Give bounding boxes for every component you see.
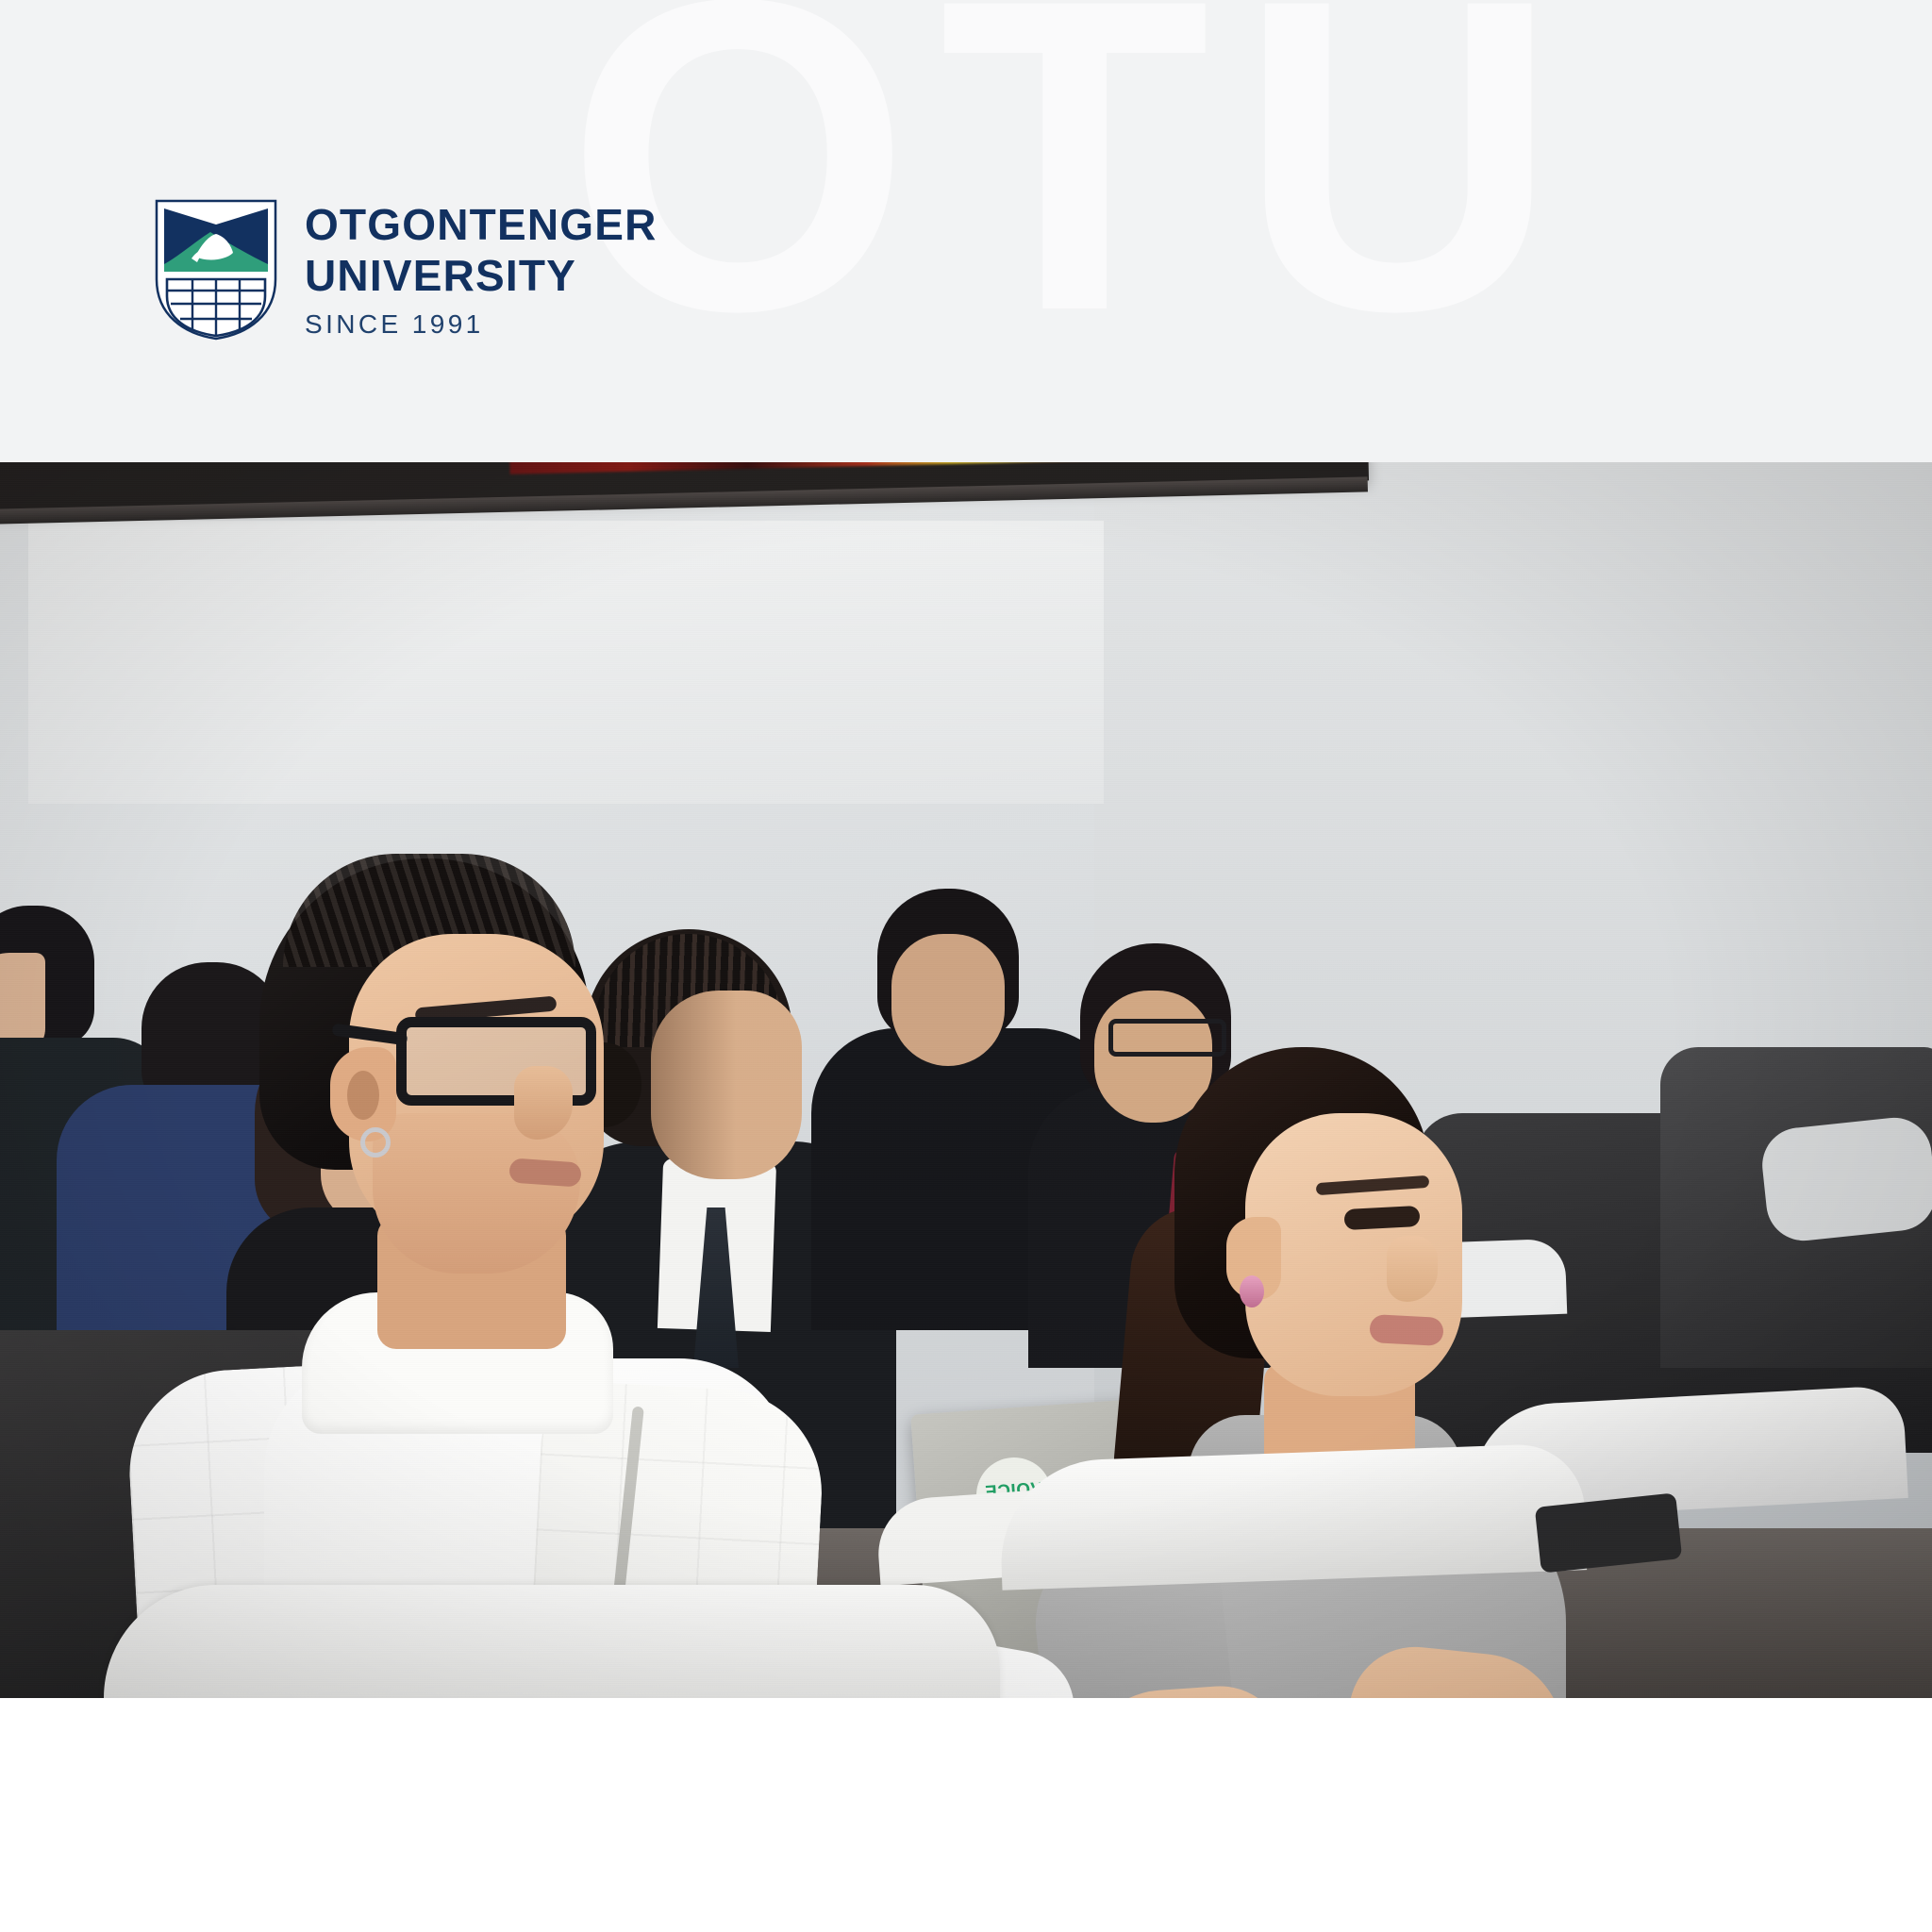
wordmark-line-otgontenger: OTGONTENGER xyxy=(305,200,658,250)
wordmark-since-1991: SINCE 1991 xyxy=(305,309,658,340)
photo-vignette xyxy=(0,462,1932,1698)
university-wordmark: OTGONTENGER UNIVERSITY SINCE 1991 xyxy=(305,200,658,340)
otu-watermark: OTU xyxy=(566,0,1587,377)
classroom-photograph: VOICE 1111 lool xyxy=(0,462,1932,1698)
wordmark-line-university: UNIVERSITY xyxy=(305,251,658,301)
poster-header: OTU xyxy=(0,0,1932,462)
poster-footer: www.otgontenger.edu.mn Даатгал ба ирээдү… xyxy=(0,1698,1932,1932)
otgontenger-university-crest-icon xyxy=(154,198,278,341)
social-media-poster: OTU xyxy=(0,0,1932,1932)
university-logo-block: OTGONTENGER UNIVERSITY SINCE 1991 xyxy=(154,198,658,341)
